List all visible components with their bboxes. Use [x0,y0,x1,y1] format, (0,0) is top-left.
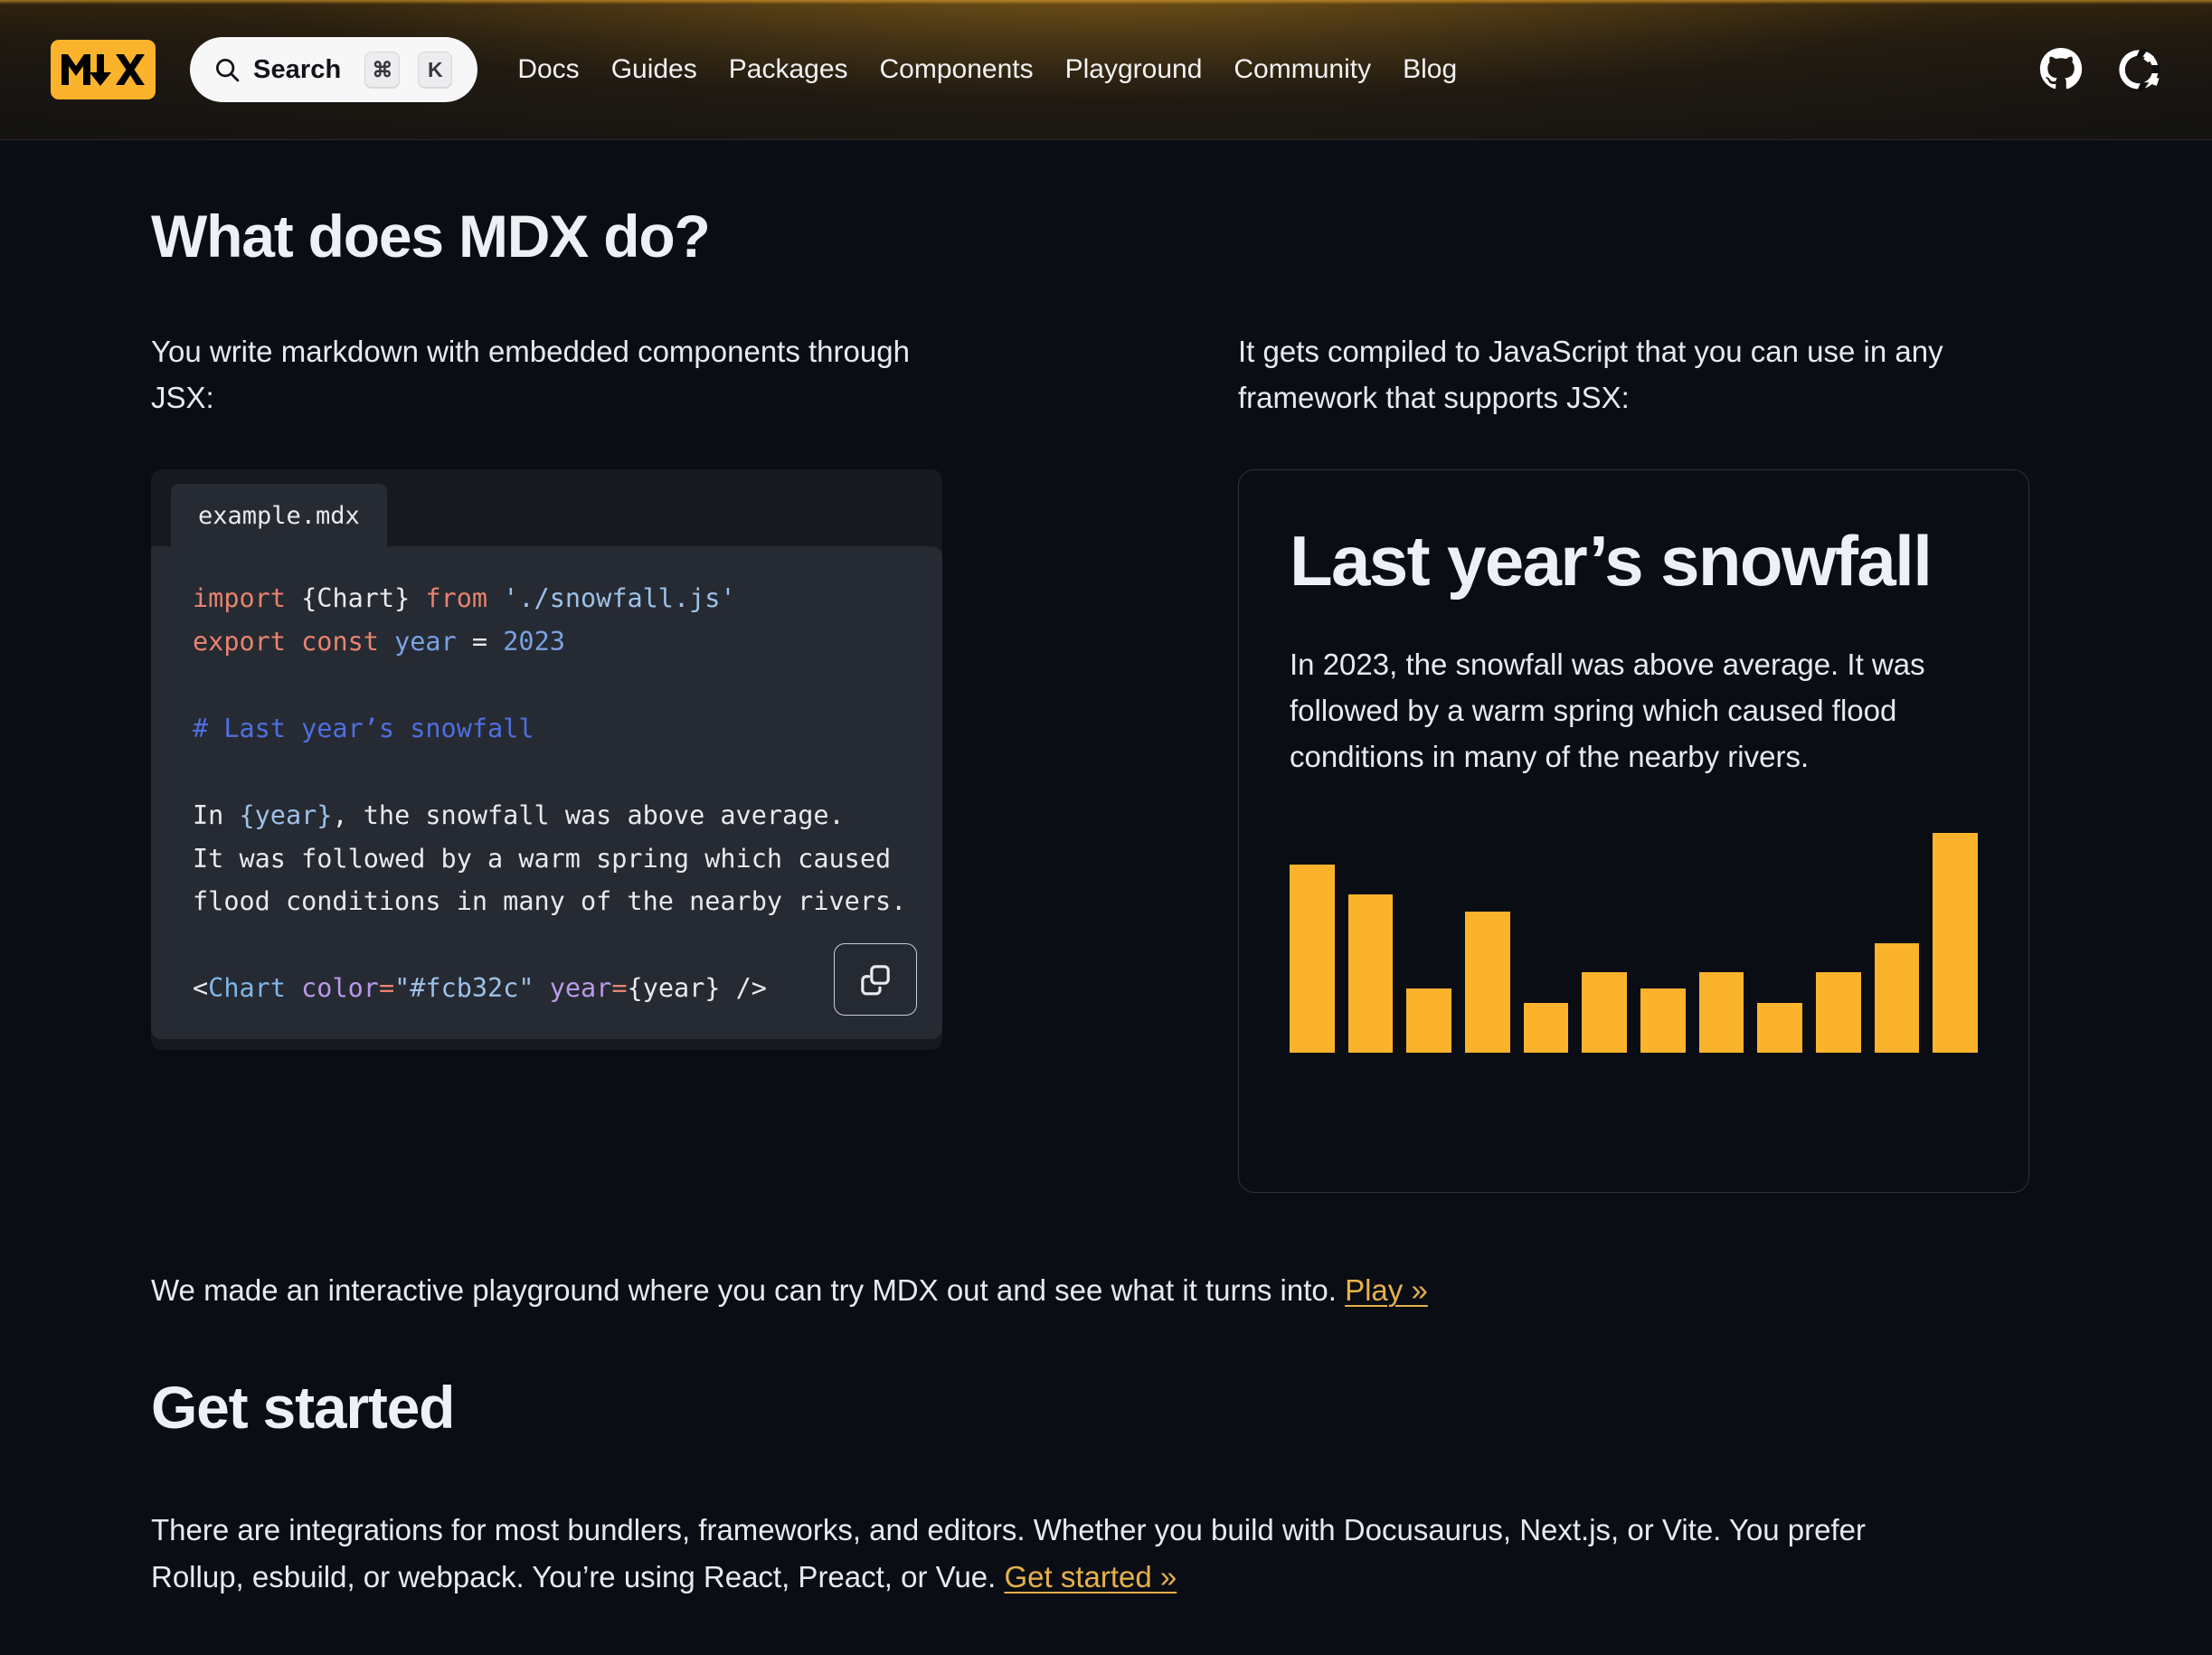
mdx-logo-mark [61,52,145,88]
playground-text: We made an interactive playground where … [151,1273,1345,1307]
two-column-area: You write markdown with embedded compone… [151,328,2070,1193]
code-content[interactable]: import {Chart} from './snowfall.js' expo… [193,577,915,1010]
column-divider [1140,328,1141,1193]
page-title: What does MDX do? [151,140,2070,270]
chart-bar [1699,972,1744,1053]
play-link[interactable]: Play » [1345,1273,1428,1307]
shortcut-key-cmd: ⌘ [364,52,400,88]
preview-body: In 2023, the snowfall was above average.… [1290,641,1978,780]
chart-bar [1816,972,1861,1053]
mdx-logo[interactable] [51,40,156,99]
right-lede: It gets compiled to JavaScript that you … [1238,328,2029,421]
preview-heading: Last year’s snowfall [1290,523,1978,599]
site-header: Search ⌘ K Docs Guides Packages Componen… [0,0,2212,140]
search-input[interactable]: Search ⌘ K [190,37,477,102]
chart-bar [1875,943,1920,1053]
color-mode-icon [2116,47,2161,92]
chart-bar [1465,912,1510,1053]
chart-bar [1348,894,1394,1053]
code-body: import {Chart} from './snowfall.js' expo… [151,546,942,1039]
nav-item-community[interactable]: Community [1234,54,1371,85]
snowfall-bar-chart [1290,827,1978,1053]
preview-card: Last year’s snowfall In 2023, the snowfa… [1238,469,2029,1193]
nav-item-guides[interactable]: Guides [611,54,697,85]
chart-bar [1757,1003,1802,1053]
get-started-paragraph: There are integrations for most bundlers… [151,1442,1905,1599]
nav-item-docs[interactable]: Docs [517,54,579,85]
main-content: What does MDX do? You write markdown wit… [0,140,2212,1600]
nav-item-blog[interactable]: Blog [1403,54,1457,85]
header-actions [2038,47,2161,92]
nav-item-components[interactable]: Components [880,54,1034,85]
copy-code-button[interactable] [834,943,917,1016]
chart-bar [1933,833,1978,1053]
github-link[interactable] [2038,47,2084,92]
shortcut-key-k: K [418,52,452,88]
nav-item-packages[interactable]: Packages [729,54,848,85]
right-column: It gets compiled to JavaScript that you … [1238,328,2029,1193]
search-placeholder: Search [253,55,341,85]
chart-bar [1524,1003,1569,1053]
chart-bar [1640,988,1686,1053]
left-lede: You write markdown with embedded compone… [151,328,947,421]
copy-icon [857,961,893,998]
chart-bar [1582,972,1627,1053]
chart-bar [1290,865,1335,1053]
nav-item-playground[interactable]: Playground [1065,54,1203,85]
search-icon [213,56,241,83]
chart-bar [1406,988,1451,1053]
code-block: example.mdx import {Chart} from './snowf… [151,469,942,1050]
primary-nav: Docs Guides Packages Components Playgrou… [517,54,1457,85]
github-icon [2038,47,2084,92]
playground-paragraph: We made an interactive playground where … [151,1193,1905,1313]
get-started-link[interactable]: Get started » [1004,1560,1177,1594]
code-tab-filename[interactable]: example.mdx [171,484,387,546]
color-mode-toggle[interactable] [2116,47,2161,92]
section-title-get-started: Get started [151,1313,2070,1442]
left-column: You write markdown with embedded compone… [151,328,1044,1193]
